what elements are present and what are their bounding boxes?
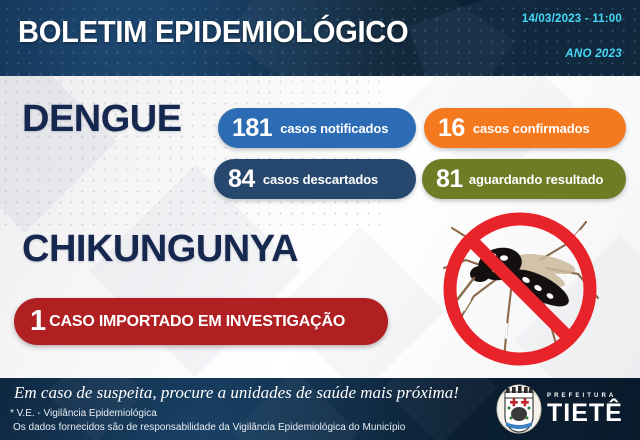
stat-pill-aguardando-resultado: 81 aguardando resultado [422,159,626,199]
stat-pill-casos-notificados: 181 casos notificados [218,108,416,148]
chikungunya-case-count: 1 [30,307,46,336]
footer-note-responsibility: Os dados fornecidos são de responsabilid… [13,422,405,433]
footer-note-ve: * V.E. - Vigilância Epidemiológica [10,408,157,419]
prohibition-sign [450,219,590,359]
logo-city-name: TIETÊ [547,401,623,426]
logo-wordmark: PREFEITURA TIETÊ [547,393,623,426]
stat-label: casos confirmados [473,121,590,136]
city-hall-logo: PREFEITURA TIETÊ [496,382,632,436]
bulletin-datetime: 14/03/2023 - 11:00 [522,13,622,25]
page-title: BOLETIM EPIDEMIOLÓGICO [18,14,408,50]
bulletin-year: ANO 2023 [565,48,622,60]
dengue-section-title: DENGUE [22,98,182,141]
chikungunya-section-title: CHIKUNGUNYA [22,228,298,271]
no-mosquito-icon [428,212,613,367]
footer-headline: Em caso de suspeita, procure a unidades … [14,383,459,403]
chikungunya-case-label: CASO IMPORTADO EM INVESTIGAÇÃO [49,313,345,331]
stat-label: casos notificados [280,121,388,136]
stat-label: casos descartados [263,172,378,187]
stat-value: 181 [232,116,272,141]
epidemiological-bulletin-poster: BOLETIM EPIDEMIOLÓGICO 14/03/2023 - 11:0… [0,0,640,440]
logo-prefix: PREFEITURA [547,393,623,399]
coat-of-arms-icon [496,384,542,434]
stat-value: 84 [228,167,255,192]
header-banner: BOLETIM EPIDEMIOLÓGICO 14/03/2023 - 11:0… [0,0,640,76]
stat-value: 16 [438,116,465,141]
stat-pill-casos-confirmados: 16 casos confirmados [424,108,626,148]
stat-value: 81 [436,167,463,192]
chikungunya-case-banner: 1 CASO IMPORTADO EM INVESTIGAÇÃO [14,298,388,345]
stat-pill-casos-descartados: 84 casos descartados [214,159,416,199]
stat-label: aguardando resultado [469,172,604,187]
